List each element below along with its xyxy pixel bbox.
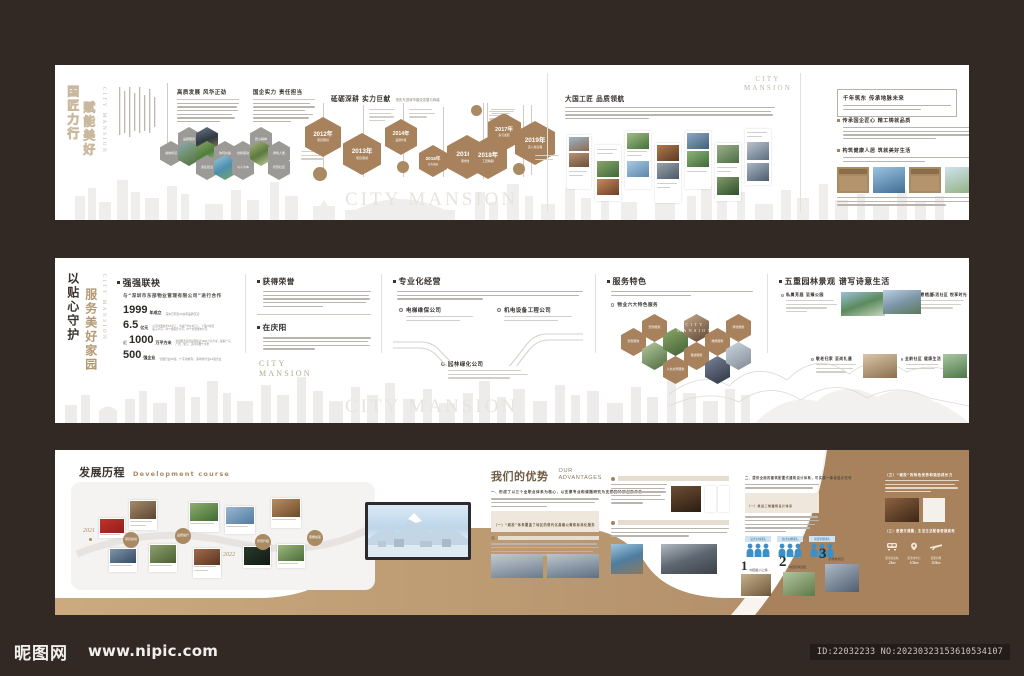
stat-row: 1999 年成立 深中已有近20余年品牌沉淀	[123, 304, 237, 316]
block-honors: 获得荣誉 在庆阳 CITY MANSION	[257, 276, 371, 380]
advantages-intro: 一、形成了以三个全职业体系为核心，以支撑专业和课题研究为支撑的科研创新体系 （一…	[491, 490, 599, 558]
bullet-dot-icon	[491, 536, 495, 540]
screen-content	[368, 505, 468, 557]
bullet-block-2: 构筑健康人居 筑就美好生活	[837, 147, 969, 164]
brand-city-mansion: CITY MANSION	[259, 359, 371, 381]
advantage-photo[interactable]	[671, 486, 701, 512]
block-craftsmanship: 大国工匠 品质领航	[565, 93, 775, 122]
stat-value: 500	[123, 349, 141, 361]
transport-value: 2km	[885, 560, 899, 565]
heading-bullet-1: 传承国企匠心 精工铸就品质	[843, 117, 911, 124]
block-strategic-alliance: 强强联袂 与“深圳市东部物业管理有限公司”进行合作 1999 年成立 深中已有近…	[117, 276, 237, 361]
heritage-photo-card[interactable]	[945, 167, 969, 193]
advantage-photo[interactable]	[661, 544, 717, 574]
timeline-photo-card[interactable]	[271, 498, 301, 528]
timeline-photo-card[interactable]	[189, 502, 219, 532]
bullet-marker-icon	[779, 280, 782, 283]
rank-photo[interactable]	[783, 572, 815, 596]
stat-value: 1999	[123, 304, 147, 316]
rank-item[interactable]: 1 中国最小上榜	[741, 558, 768, 574]
timeline-year-label: 迈入新征程	[525, 145, 546, 149]
bullet-marker-icon	[393, 280, 396, 283]
block-landscape-five-layers: 五重园林景观 谱写诗意生活 私属芳庭 至臻公园 公园社区 诗意栖居	[779, 276, 963, 287]
panel-divider	[381, 274, 382, 353]
service-hex-cluster: 管家服务 安防服务 人文关怀服务 保洁服务 维修服务 绿化服务 CITY MAN…	[621, 310, 761, 374]
site-footer: 昵图网 www.nipic.com ID:22032233 NO:2023032…	[0, 630, 1024, 676]
watermark-city-mansion: CITY MANSION	[345, 396, 518, 418]
heading-professional-operation: 专业化经营	[399, 276, 442, 287]
ribbon-connector-illustration	[393, 320, 583, 366]
transport-stats: 距离高铁站 2km 距离市中心 10km 距离机场 50km	[885, 538, 959, 565]
milestone-badge[interactable]: 智慧升级	[255, 534, 271, 550]
landscape-item-title: 敬老归家 至尚礼遇	[816, 356, 852, 362]
heading-soe-strength: 国企实力 责任担当	[253, 88, 315, 96]
section-header-development: 发展历程 Development course	[79, 464, 230, 480]
subtext-alliance-partner: 与“深圳市东部物业管理有限公司”进行合作	[123, 293, 237, 299]
timeline-photo-card[interactable]	[129, 500, 157, 530]
item-marker-icon	[901, 358, 903, 361]
section-header-advantages: 我们的优势 OUR ADVANTAGES	[491, 468, 601, 484]
development-timeline-tail: 2018年 工匠精耕 2019年 迈入新征程	[473, 103, 563, 183]
landscape-photo[interactable]	[883, 290, 921, 314]
item-marker-icon	[781, 294, 784, 297]
subheading-six-services: 物业六大特色服务	[617, 302, 658, 308]
block-high-quality-growth: 高质发展 风华正劲	[177, 88, 239, 125]
transport-value: 50km	[929, 560, 943, 565]
brown-panel-heading: （三）“城投”的特色优势和强劲成长力	[885, 472, 959, 477]
timeline-year: 2021	[83, 528, 95, 534]
timeline-year: 2019年	[525, 137, 546, 144]
photo-card[interactable]	[655, 143, 681, 203]
advantage-label-bar	[618, 520, 729, 525]
section-title-cn: 发展历程	[79, 464, 125, 480]
train-icon	[885, 542, 899, 551]
certificate-thumb[interactable]	[718, 486, 729, 512]
timeline-mini-badge[interactable]	[313, 167, 327, 181]
rank-photo[interactable]	[825, 564, 859, 592]
group-photo[interactable]	[491, 554, 543, 578]
transport-stat: 距离高铁站 2km	[885, 538, 899, 565]
hero-brand-vertical: CITY MANSION	[101, 274, 106, 341]
node-title: 机电设备工程公司	[504, 306, 551, 314]
transport-stat: 距离市中心 10km	[907, 538, 921, 565]
item-marker-icon	[927, 294, 929, 297]
bullet-marker-icon	[117, 281, 120, 284]
project-photo-strip	[567, 123, 777, 211]
heritage-photo-row	[837, 167, 969, 193]
rank-number: 2	[779, 554, 787, 571]
advantages-sub-label: （一）“城投”体系覆盖了地区的现代化高端公寓和标准化服务	[494, 523, 595, 527]
timeline-year-label: 品牌升级	[393, 138, 410, 142]
certificate-thumb[interactable]	[923, 498, 945, 522]
stat-unit: 万平方米	[155, 340, 171, 346]
milestone-badge[interactable]: 荣耀加冕	[307, 530, 323, 546]
stat-prefix: 近	[123, 340, 127, 346]
heritage-photo-card[interactable]	[909, 167, 941, 193]
hero-vertical-left: 国匠力行	[65, 85, 79, 141]
timeline-year-badge[interactable]: 2013年 项目落成	[343, 133, 381, 175]
panel-service-philosophy: CITY MANSION 以贴心守护 服务美好家园 CITY MANSION 强…	[55, 258, 969, 423]
rank-number: 1	[741, 558, 748, 574]
timeline-photo-card[interactable]	[149, 544, 177, 572]
timeline-year: 2015年	[426, 156, 441, 161]
hero-brand-vertical: CITY MANSION	[101, 87, 106, 154]
hero-vertical-right: 服务美好家园	[83, 288, 97, 372]
brand-line-2: MANSION	[259, 369, 371, 380]
timeline-mini-badge[interactable]	[397, 161, 409, 173]
stat-unit: 强企业	[143, 355, 155, 361]
timeline-year-label: 项目奠基	[313, 138, 332, 142]
heading-bullet-2: 构筑健康人居 筑就美好生活	[843, 147, 911, 154]
group-photo[interactable]	[547, 554, 599, 578]
bullet-dot-icon	[611, 521, 615, 525]
heading-service-features: 服务特色	[613, 276, 647, 287]
node-title: 电梯维保公司	[406, 306, 441, 314]
landscape-item[interactable]: 乐活社区 悦享时光	[927, 292, 967, 311]
transport-stat: 距离机场 50km	[929, 538, 943, 565]
timeline-heading: 砥砺深耕 实力巨献	[331, 93, 391, 103]
bullet-dot-icon	[611, 477, 615, 481]
advantages-title-en-1: OUR	[559, 468, 602, 475]
pin-icon	[907, 542, 921, 551]
asset-id-badge: ID:22032233 NO:20230323153610534107	[810, 644, 1010, 660]
advantage-block-1	[611, 476, 729, 506]
timeline-year: 2022	[223, 552, 235, 558]
advantage-block-3: 二、提供全面的建筑配置式建筑设计体系，可实现一体化设计交付 （一）推进三维建筑设…	[745, 476, 819, 535]
heading-honors: 获得荣誉	[263, 276, 295, 287]
rank-number: 3	[819, 546, 827, 563]
heading-strategic-alliance: 强强联袂	[123, 276, 161, 289]
timeline-photo-card[interactable]	[193, 548, 221, 578]
advantages-title-cn: 我们的优势	[491, 468, 549, 484]
panel-divider	[547, 73, 548, 212]
display-screen[interactable]	[365, 502, 471, 560]
advantage-block-2	[611, 520, 729, 539]
landscape-item[interactable]: 敬老归家 至尚礼遇	[811, 356, 859, 375]
intro-vertical-text	[117, 87, 161, 141]
landscape-item[interactable]: 全龄社区 健康生活	[901, 356, 941, 371]
bullet-marker-icon	[837, 119, 840, 122]
landscape-photo[interactable]	[943, 354, 967, 378]
heading-heritage: 千年筑东 传承地脉未来	[843, 94, 951, 102]
timeline-year-badge[interactable]: 2018年 工匠精耕	[469, 137, 507, 179]
photo-card[interactable]	[685, 131, 711, 189]
brown-panel-photo[interactable]	[885, 498, 919, 522]
landscape-item-title: 全龄社区 健康生活	[905, 356, 941, 362]
site-logo-url[interactable]: www.nipic.com	[88, 642, 218, 660]
block-professional-operation: 专业化经营 电梯维保公司 机电设备工程公司	[393, 276, 583, 302]
rank-label: 高端城市园	[829, 557, 844, 561]
photo-card[interactable]	[567, 135, 591, 189]
brand-line-1: CITY	[259, 359, 371, 370]
site-logo-cn[interactable]: 昵图网	[14, 639, 68, 664]
development-course-timeline: 2021 2022	[71, 482, 375, 590]
rank-label: 中国最小上榜	[750, 568, 768, 572]
stat-row: 近 1000 万平方米 在管服务项目总面积近1000万平方米，辐射广东、广西、浙…	[123, 334, 237, 346]
advantage-label-bar	[618, 476, 729, 481]
stat-value: 1000	[129, 334, 153, 346]
brand-line-2: MANSION	[677, 328, 713, 334]
stat-row: 6.5 亿元 公司注册资金6.5亿元，净资产约4.5亿元，下辖27家控股子公司，…	[123, 319, 237, 331]
stat-desc: 公司注册资金6.5亿元，净资产约4.5亿元，下辖27家控股子公司，14个省级分公…	[152, 325, 214, 331]
panel-development-advantages: 发展历程 Development course 2021 2022	[55, 450, 969, 615]
landscape-photo[interactable]	[863, 354, 897, 378]
photo-card[interactable]	[715, 143, 741, 201]
bullet-marker-icon	[257, 326, 260, 329]
heading-craftsmanship: 大国工匠 品质领航	[565, 93, 775, 103]
timeline-year: 2013年	[352, 148, 373, 155]
brand-city-mansion-overlay: CITY MANSION	[677, 322, 713, 334]
stat-unit: 年成立	[149, 310, 161, 316]
advantages-title-en-2: ADVANTAGES	[559, 475, 602, 482]
advantages-right-intro: 二、提供全面的建筑配置式建筑设计体系，可实现一体化设计交付	[745, 476, 819, 481]
heritage-footnote	[837, 197, 969, 208]
panel-divider	[595, 274, 596, 353]
timeline-year-label: 工匠精耕	[478, 159, 498, 163]
stat-desc: 全国行业50强、广东省前列、深圳市行业10强企业	[159, 357, 221, 361]
photo-card[interactable]	[745, 129, 771, 185]
section-title-en: Development course	[133, 470, 230, 478]
item-marker-icon	[811, 358, 814, 361]
timeline-photo-card[interactable]	[99, 518, 125, 538]
rank-item[interactable]: 3 高端城市园	[819, 546, 844, 563]
brown-panel-subheading: （三）便捷交通圈，生活生活配套便捷高效	[885, 528, 959, 533]
node-marker-icon	[497, 308, 501, 312]
bullet-marker-icon	[837, 149, 840, 152]
milestone-badge[interactable]: 项目启动	[123, 532, 139, 548]
stat-unit: 亿元	[140, 325, 148, 331]
landscape-item-title: 私属芳庭 至臻公园	[786, 292, 824, 298]
heading-landscape: 五重园林景观 谱写诗意生活	[785, 276, 890, 287]
timeline-photo-card[interactable]	[225, 506, 255, 534]
people-icon	[745, 542, 771, 558]
stat-row: 500 强企业 全国行业50强、广东省前列、深圳市行业10强企业	[123, 349, 237, 361]
panel-corporate-overview: CITY MANSION 国匠力行 赋能美好 CITY MANSION 高质发展…	[55, 65, 969, 220]
photo-card[interactable]	[595, 145, 621, 201]
sub-marker-icon	[611, 303, 614, 306]
timeline-year-label: 业务拓展	[426, 162, 441, 166]
poster-canvas: CITY MANSION 国匠力行 赋能美好 CITY MANSION 高质发展…	[0, 0, 1024, 676]
heritage-photo-card[interactable]	[873, 167, 905, 193]
node-marker-icon	[399, 308, 403, 312]
landscape-item-title: 乐活社区 悦享时光	[931, 292, 967, 298]
watermark-city-mansion: CITY MANSION	[345, 189, 518, 211]
heritage-box: 千年筑东 传承地脉未来	[837, 89, 957, 117]
advantage-photo[interactable]	[611, 544, 643, 574]
brown-panel-content: （三）“城投”的特色优势和强劲成长力 （三）便捷交通圈，生活生活配套便捷高效	[885, 472, 959, 565]
panel-divider	[767, 274, 768, 353]
rank-photo[interactable]	[741, 574, 771, 596]
transport-value: 10km	[907, 560, 921, 565]
timeline-photo-card[interactable]	[109, 548, 137, 572]
landscape-item[interactable]: 私属芳庭 至臻公园	[781, 292, 839, 315]
panel-divider	[800, 73, 801, 212]
bullet-marker-icon	[257, 280, 260, 283]
certificate-thumb[interactable]	[705, 486, 716, 512]
rank-label: 中国高效园区	[789, 565, 807, 569]
timeline-year-badge[interactable]: 2014年 品牌升级	[385, 119, 417, 155]
milestone-badge[interactable]: 品质提升	[175, 528, 191, 544]
label-bar	[498, 536, 599, 540]
bullet-marker-icon	[607, 280, 610, 283]
block-service-features: 服务特色 物业六大特色服务 管家服务 安防服务 人文关怀服务 保洁服务 维修服务	[607, 276, 759, 308]
rank-item[interactable]: 2 中国高效园区	[779, 554, 807, 571]
timeline-dot	[89, 538, 92, 541]
timeline-photo-card[interactable]	[243, 546, 271, 568]
bullet-block-1: 传承国企匠心 精工铸就品质	[837, 117, 969, 142]
timeline-photo-card[interactable]	[277, 544, 305, 568]
plane-icon	[929, 542, 943, 551]
timeline-header: 砥砺深耕 实力巨献 肇庆东进城市建设发展与辉煌	[331, 93, 440, 103]
stat-value: 6.5	[123, 319, 138, 331]
hero-vertical-left: 以贴心守护	[65, 272, 79, 342]
photo-card[interactable]	[625, 131, 651, 189]
landscape-photo[interactable]	[841, 292, 885, 316]
advantages-intro-text: 一、形成了以三个全职业体系为核心，以支撑专业和课题研究为支撑的科研创新体系	[491, 490, 599, 495]
timeline-subheading: 肇庆东进城市建设发展与辉煌	[396, 97, 440, 102]
panel-divider	[245, 274, 246, 353]
body-text-block	[177, 103, 239, 123]
stat-desc: 在管服务项目总面积近1000万平方米，辐射广东、广西、浙江、贵州等数十省市	[175, 340, 233, 346]
advantages-right-sub: （一）推进三维建筑设计体系	[747, 504, 793, 508]
timeline-year-label: 项目落成	[352, 156, 373, 160]
hero-vertical-right: 赋能美好	[81, 101, 95, 157]
heritage-photo-card[interactable]	[837, 167, 869, 193]
stat-desc: 深中已有近20余年品牌沉淀	[165, 312, 199, 316]
heading-qingyang: 在庆阳	[263, 322, 287, 333]
heading-high-quality-growth: 高质发展 风华正劲	[177, 88, 239, 96]
